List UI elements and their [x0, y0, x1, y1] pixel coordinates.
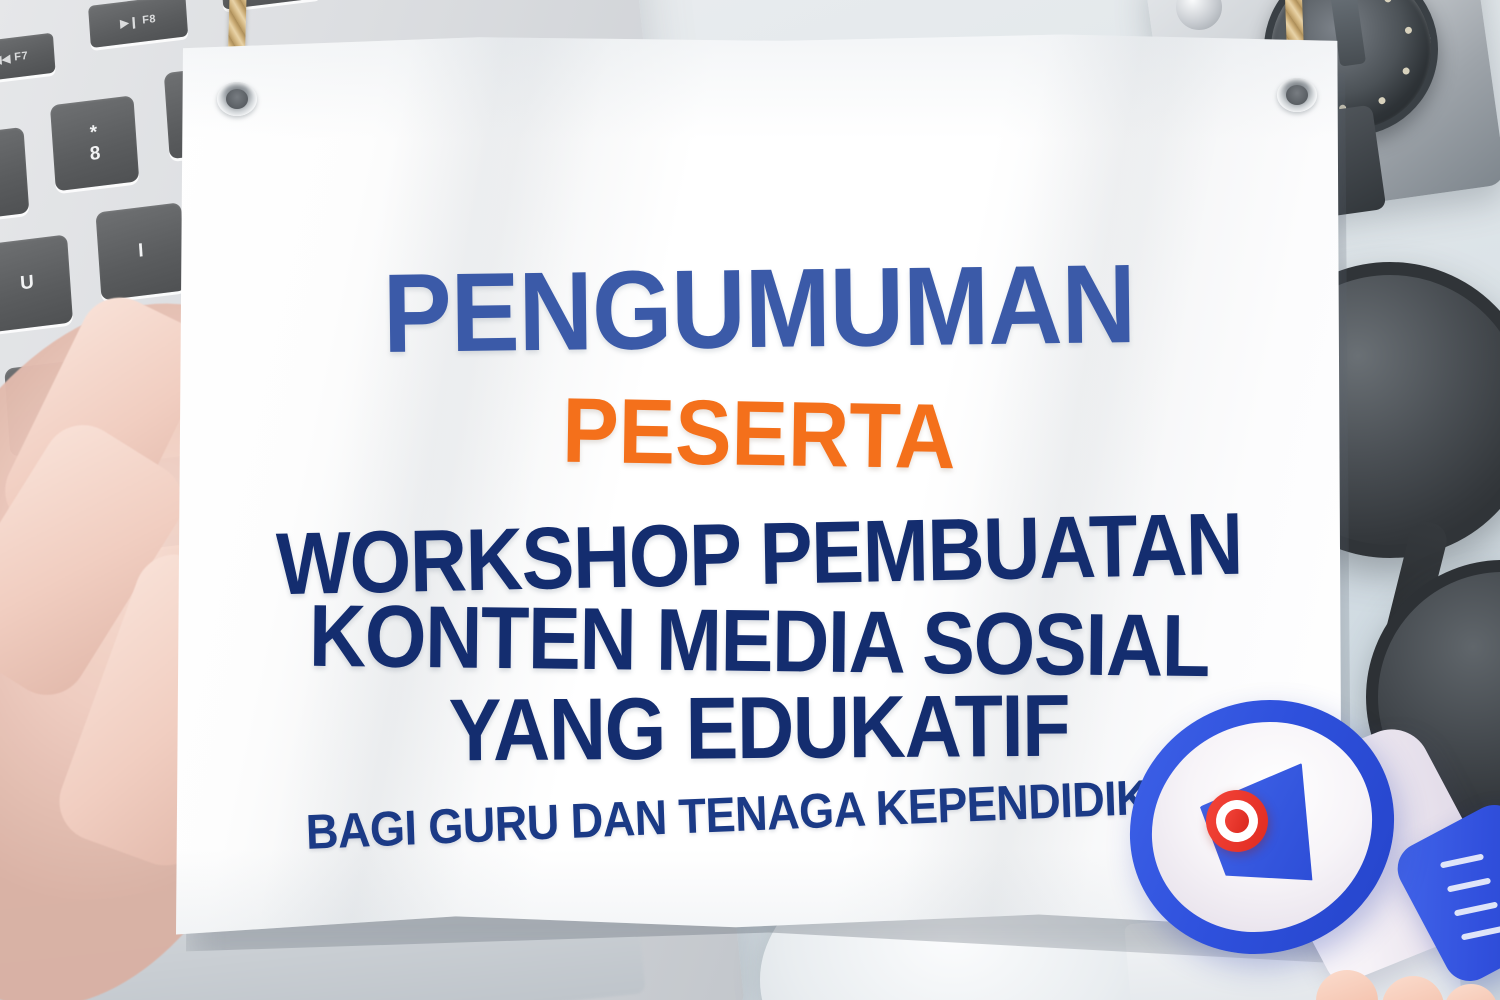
poster-grommet-left [217, 82, 257, 116]
camera-dial-tick [1378, 97, 1386, 105]
key-f7: ◀◀ F7 [0, 33, 56, 84]
poster-grommet-right [1277, 78, 1317, 112]
key-f7-sub: F7 [14, 50, 29, 64]
key-f7-label: ◀◀ [0, 51, 11, 66]
key-f8-sub: F8 [142, 13, 157, 27]
key-u-label: U [19, 272, 35, 296]
megaphone-holding-hand [1316, 962, 1486, 1000]
camera-dial-tick [1384, 0, 1392, 3]
key-7-ampersand: & 7 [0, 127, 29, 223]
key-8-label: 8 [89, 143, 101, 164]
key-f8-label: ▶❙ [120, 15, 139, 30]
key-f8: ▶❙ F8 [88, 0, 188, 48]
key-asterisk-label: * [89, 122, 98, 143]
megaphone-icon [1120, 690, 1500, 1000]
headline-announcement: PENGUMUMAN [222, 237, 1296, 380]
headline-participants: PESERTA [222, 373, 1296, 496]
finger [1444, 984, 1498, 1000]
camera-dial-tick [1402, 67, 1410, 75]
poster-scene: ◀◀ F7 ▶❙ F8 ▶▶ F9 & 7 * 8 Y U I [0, 0, 1500, 1000]
key-8-asterisk: * 8 [50, 95, 139, 191]
key-i: I [95, 202, 187, 300]
camera-dial-tick [1405, 26, 1413, 34]
finger [1382, 976, 1444, 1000]
finger [1316, 970, 1378, 1000]
key-u: U [0, 234, 73, 332]
key-i-label: I [138, 240, 145, 263]
